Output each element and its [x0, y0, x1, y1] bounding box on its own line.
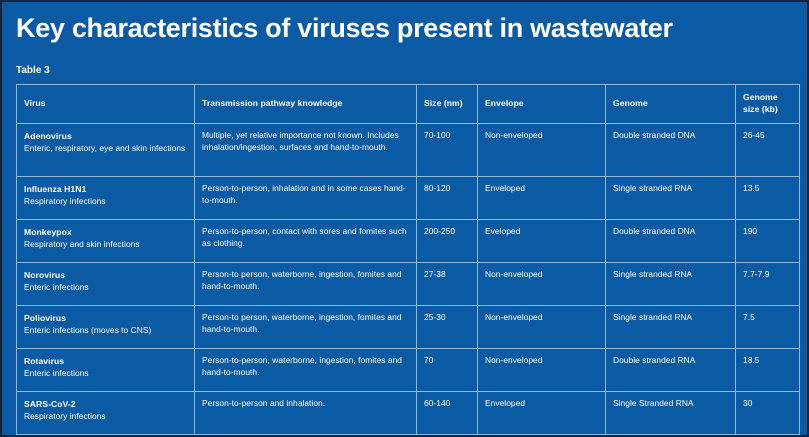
page-title: Key characteristics of viruses present i… — [2, 2, 807, 43]
cell-size: 27-38 — [417, 263, 478, 306]
cell-transmission-pathway: Person-to-person, inhalation and in some… — [195, 177, 417, 220]
virus-characteristics-table: Virus Transmission pathway knowledge Siz… — [16, 84, 800, 435]
cell-virus: SARS-CoV-2 Respiratory infections — [17, 392, 195, 435]
table-body: Adenovirus Enteric, respiratory, eye and… — [17, 124, 800, 435]
cell-size: 70-100 — [417, 124, 478, 177]
cell-transmission-pathway: Person-to-person and inhalation. — [195, 392, 417, 435]
cell-virus: Poliovirus Enteric infections (moves to … — [17, 306, 195, 349]
cell-genome: Single Stranded RNA — [606, 392, 736, 435]
virus-name: Rotavirus — [24, 355, 188, 367]
cell-genome-size: 13.5 — [736, 177, 800, 220]
cell-genome-size: 26-45 — [736, 124, 800, 177]
column-header-envelope: Envelope — [478, 85, 606, 124]
table-header: Virus Transmission pathway knowledge Siz… — [17, 85, 800, 124]
column-header-transmission-pathway: Transmission pathway knowledge — [195, 85, 417, 124]
cell-virus: Influenza H1N1 Respiratory infections — [17, 177, 195, 220]
cell-size: 80-120 — [417, 177, 478, 220]
virus-name: Monkeypox — [24, 226, 188, 238]
virus-name: SARS-CoV-2 — [24, 398, 188, 410]
cell-genome: Single stranded RNA — [606, 177, 736, 220]
cell-transmission-pathway: Person-to-person, contact with sores and… — [195, 220, 417, 263]
cell-size: 200-250 — [417, 220, 478, 263]
cell-size: 70 — [417, 349, 478, 392]
virus-name: Poliovirus — [24, 312, 188, 324]
cell-transmission-pathway: Person-to-person, waterborne, ingestion,… — [195, 349, 417, 392]
cell-envelope: Non-enveloped — [478, 124, 606, 177]
cell-size: 25-30 — [417, 306, 478, 349]
cell-transmission-pathway: Person-to person, waterborne, ingestion,… — [195, 263, 417, 306]
column-header-genome-size-line2: size (kb) — [743, 104, 793, 116]
cell-virus: Monkeypox Respiratory and skin infection… — [17, 220, 195, 263]
table-row: Monkeypox Respiratory and skin infection… — [17, 220, 800, 263]
cell-size: 60-140 — [417, 392, 478, 435]
virus-name: Norovirus — [24, 269, 188, 281]
virus-description: Respiratory infections — [24, 196, 188, 208]
cell-genome-size: 190 — [736, 220, 800, 263]
table-header-row: Virus Transmission pathway knowledge Siz… — [17, 85, 800, 124]
table-row: Norovirus Enteric infections Person-to p… — [17, 263, 800, 306]
cell-genome-size: 30 — [736, 392, 800, 435]
column-header-genome-size: Genome size (kb) — [736, 85, 800, 124]
cell-envelope: Non-enveloped — [478, 349, 606, 392]
virus-description: Enteric infections (moves to CNS) — [24, 325, 188, 337]
cell-envelope: Enveloped — [478, 177, 606, 220]
table-row: Rotavirus Enteric infections Person-to-p… — [17, 349, 800, 392]
table-container: Virus Transmission pathway knowledge Siz… — [2, 84, 807, 435]
table-row: Adenovirus Enteric, respiratory, eye and… — [17, 124, 800, 177]
cell-envelope: Enveloped — [478, 392, 606, 435]
column-header-genome-size-line1: Genome — [743, 92, 793, 104]
virus-description: Respiratory and skin infections — [24, 239, 188, 251]
table-caption: Table 3 — [2, 43, 807, 84]
virus-name: Influenza H1N1 — [24, 183, 188, 195]
virus-description: Respiratory infections — [24, 411, 188, 423]
cell-virus: Norovirus Enteric infections — [17, 263, 195, 306]
cell-envelope: Eveloped — [478, 220, 606, 263]
table-row: Influenza H1N1 Respiratory infections Pe… — [17, 177, 800, 220]
column-header-virus: Virus — [17, 85, 195, 124]
cell-transmission-pathway: Person-to person, waterborne, ingestion,… — [195, 306, 417, 349]
cell-genome: Single stranded RNA — [606, 306, 736, 349]
virus-description: Enteric, respiratory, eye and skin infec… — [24, 143, 188, 155]
cell-virus: Adenovirus Enteric, respiratory, eye and… — [17, 124, 195, 177]
slide-root: Key characteristics of viruses present i… — [0, 0, 809, 437]
cell-genome-size: 7.5 — [736, 306, 800, 349]
cell-genome: Double stranded DNA — [606, 124, 736, 177]
column-header-genome: Genome — [606, 85, 736, 124]
cell-virus: Rotavirus Enteric infections — [17, 349, 195, 392]
cell-transmission-pathway: Multiple, yet relative importance not kn… — [195, 124, 417, 177]
cell-genome: Single stranded RNA — [606, 263, 736, 306]
cell-genome: Double stranded RNA — [606, 349, 736, 392]
table-row: SARS-CoV-2 Respiratory infections Person… — [17, 392, 800, 435]
cell-genome-size: 7.7-7.9 — [736, 263, 800, 306]
virus-name: Adenovirus — [24, 130, 188, 142]
table-row: Poliovirus Enteric infections (moves to … — [17, 306, 800, 349]
cell-envelope: Non-enveloped — [478, 306, 606, 349]
cell-envelope: Non-enveloped — [478, 263, 606, 306]
cell-genome: Double stranded DNA — [606, 220, 736, 263]
virus-description: Enteric infections — [24, 368, 188, 380]
virus-description: Enteric infections — [24, 282, 188, 294]
cell-genome-size: 18.5 — [736, 349, 800, 392]
column-header-size: Size (nm) — [417, 85, 478, 124]
